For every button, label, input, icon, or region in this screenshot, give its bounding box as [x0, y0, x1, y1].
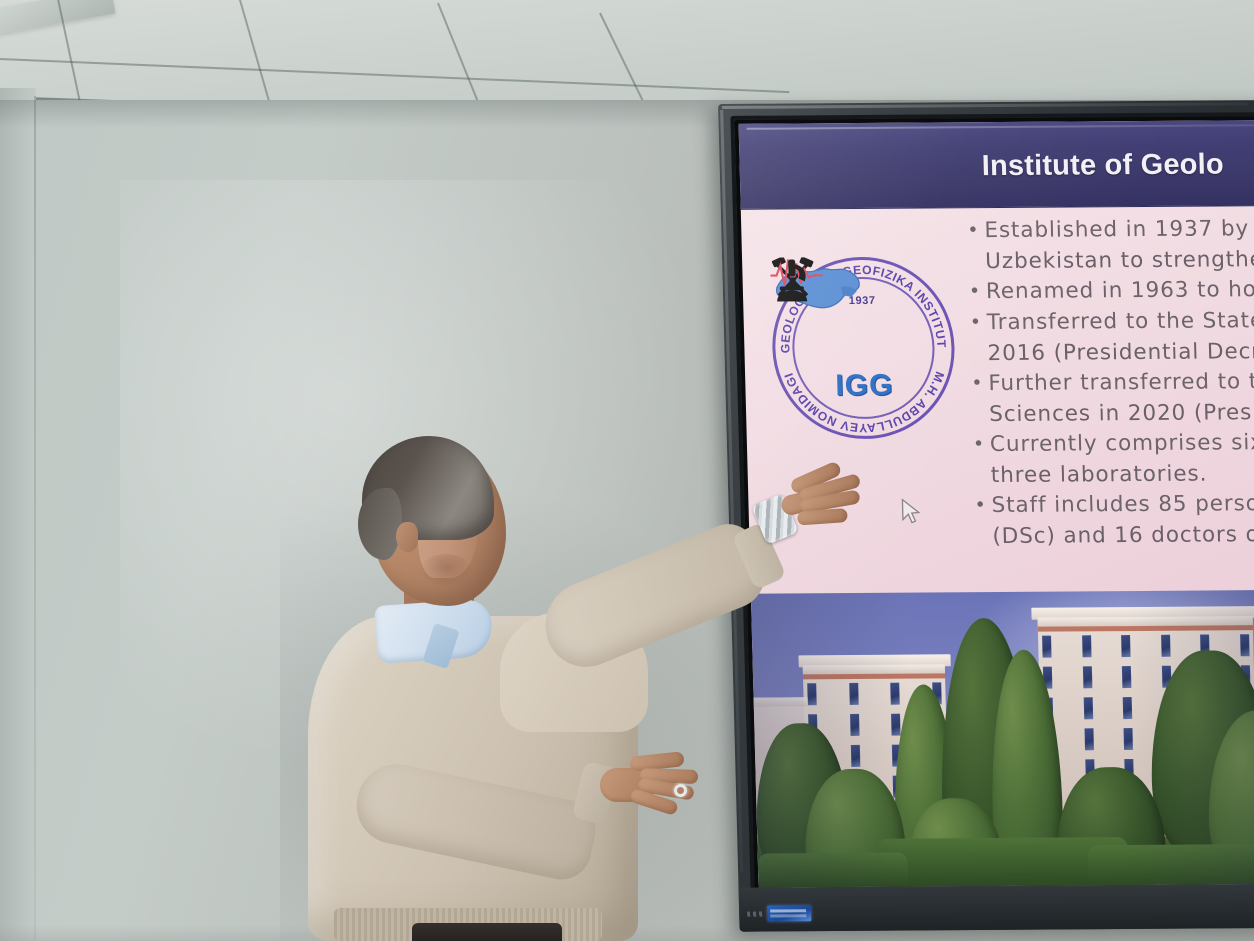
ceiling-tile-line — [0, 58, 789, 93]
presenter-jaw-shadow — [420, 554, 472, 588]
presenter-gesturing-hand — [600, 748, 710, 844]
wall-corner — [34, 96, 36, 941]
presentation-room-scene: Institute of Geolo GEOLOGIYA VA GEOFIZIK… — [0, 0, 1254, 941]
display-bottom-chin — [739, 884, 1254, 932]
presenter-hair-side — [358, 488, 402, 560]
finger — [797, 508, 848, 525]
presenter-trousers — [412, 923, 562, 941]
left-wall — [0, 88, 36, 941]
presenter — [300, 430, 780, 941]
presenter-ear — [396, 522, 418, 552]
finger-ring — [674, 784, 687, 797]
